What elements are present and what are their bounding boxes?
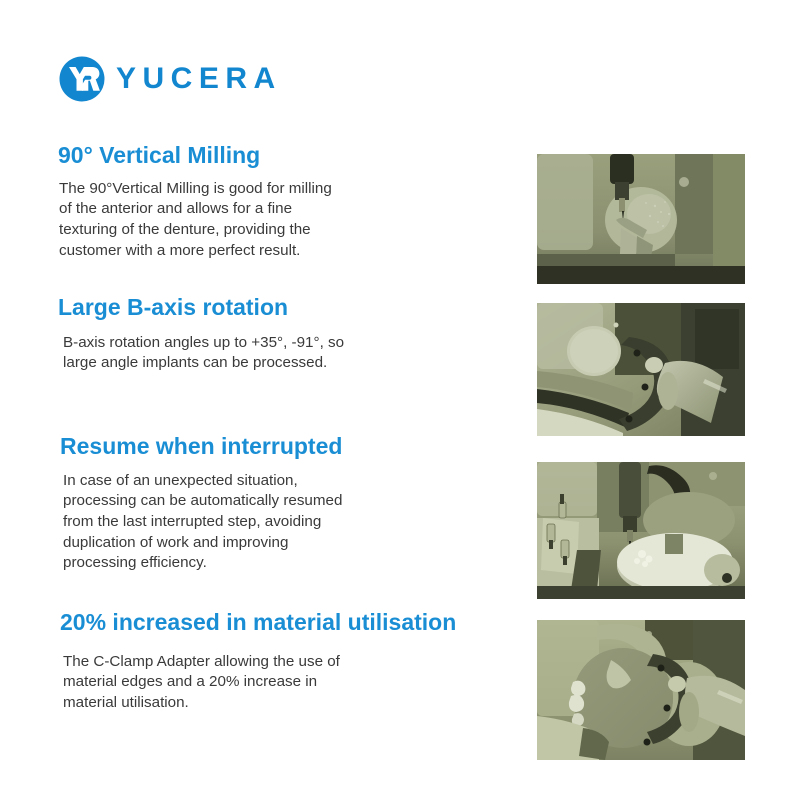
brand-logo: YUCERA [58,55,282,103]
feature-title: 20% increased in material utilisation [60,610,460,636]
feature-photo-b-axis-rotation [537,303,745,436]
feature-description: B-axis rotation angles up to +35°, -91°,… [63,333,460,374]
feature-photo-vertical-milling [537,154,745,284]
brand-wordmark: YUCERA [116,64,282,94]
feature-block-b-axis-rotation: Large B-axis rotation B-axis rotation an… [0,295,460,374]
feature-photo-resume-when-interrupted [537,462,745,599]
feature-description: The 90°Vertical Milling is good for mill… [59,179,460,262]
feature-block-material-utilisation: 20% increased in material utilisation Th… [0,610,460,714]
feature-description: The C-Clamp Adapter allowing the use of … [63,652,460,714]
feature-photo-c-clamp-adapter [537,620,745,760]
feature-title: Resume when interrupted [60,434,460,460]
feature-description: In case of an unexpected situation, proc… [63,471,460,574]
yucera-yr-monogram-icon [58,55,106,103]
feature-block-resume-when-interrupted: Resume when interrupted In case of an un… [0,434,460,574]
feature-block-vertical-milling: 90° Vertical Milling The 90°Vertical Mil… [0,143,460,261]
feature-title: 90° Vertical Milling [58,143,460,169]
feature-title: Large B-axis rotation [58,295,460,321]
